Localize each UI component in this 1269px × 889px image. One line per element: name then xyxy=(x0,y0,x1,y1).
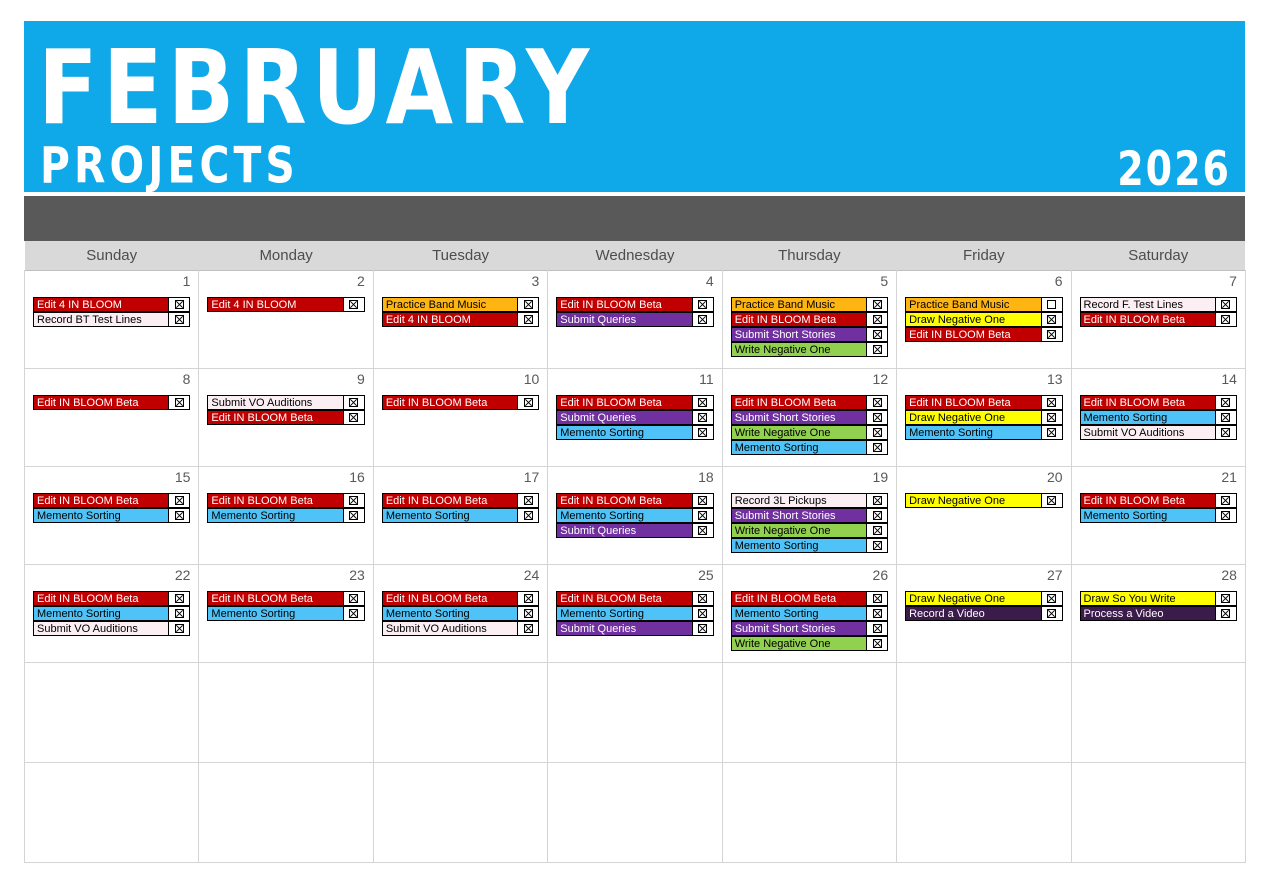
event-item[interactable]: Submit VO Auditions xyxy=(207,395,364,410)
calendar-day-cell-empty[interactable] xyxy=(199,763,373,863)
event-checkbox-checked-icon[interactable] xyxy=(517,493,539,508)
calendar-week-row xyxy=(25,663,1246,763)
event-checkbox-checked-icon[interactable] xyxy=(866,410,888,425)
calendar-day-cell-13[interactable]: 13Edit IN BLOOM BetaDraw Negative OneMem… xyxy=(897,369,1071,467)
event-label[interactable]: Edit IN BLOOM Beta xyxy=(556,297,691,312)
checkbox-glyph xyxy=(1047,413,1056,422)
event-checkbox-checked-icon[interactable] xyxy=(692,606,714,621)
event-checkbox-checked-icon[interactable] xyxy=(1215,606,1237,621)
event-label[interactable]: Edit IN BLOOM Beta xyxy=(207,591,342,606)
day-number: 23 xyxy=(199,565,372,585)
event-label[interactable]: Memento Sorting xyxy=(33,508,168,523)
calendar-day-cell-empty[interactable] xyxy=(373,663,547,763)
weekday-header-row: SundayMondayTuesdayWednesdayThursdayFrid… xyxy=(25,241,1246,271)
event-item[interactable]: Process a Video xyxy=(1080,606,1237,621)
event-label[interactable]: Memento Sorting xyxy=(556,425,691,440)
event-item[interactable]: Memento Sorting xyxy=(33,508,190,523)
event-checkbox-unchecked-icon[interactable] xyxy=(1041,297,1063,312)
event-checkbox-checked-icon[interactable] xyxy=(343,493,365,508)
calendar-day-cell-empty[interactable] xyxy=(722,663,896,763)
event-label[interactable]: Draw Negative One xyxy=(905,591,1040,606)
event-label[interactable]: Submit Queries xyxy=(556,312,691,327)
event-checkbox-checked-icon[interactable] xyxy=(692,523,714,538)
event-checkbox-checked-icon[interactable] xyxy=(517,297,539,312)
event-checkbox-checked-icon[interactable] xyxy=(343,606,365,621)
event-item[interactable]: Submit Short Stories xyxy=(731,410,888,425)
event-label[interactable]: Edit IN BLOOM Beta xyxy=(207,410,342,425)
event-list xyxy=(548,783,721,789)
event-checkbox-checked-icon[interactable] xyxy=(692,493,714,508)
calendar-day-cell-5[interactable]: 5Practice Band MusicEdit IN BLOOM BetaSu… xyxy=(722,271,896,369)
event-item[interactable]: Memento Sorting xyxy=(731,538,888,553)
event-checkbox-checked-icon[interactable] xyxy=(1041,425,1063,440)
calendar-day-cell-empty[interactable] xyxy=(722,763,896,863)
event-label[interactable]: Edit IN BLOOM Beta xyxy=(556,493,691,508)
event-label[interactable]: Record F. Test Lines xyxy=(1080,297,1215,312)
event-item[interactable]: Edit IN BLOOM Beta xyxy=(905,395,1062,410)
event-item[interactable]: Draw Negative One xyxy=(905,410,1062,425)
event-checkbox-checked-icon[interactable] xyxy=(1041,591,1063,606)
event-label[interactable]: Memento Sorting xyxy=(1080,508,1215,523)
event-item[interactable]: Memento Sorting xyxy=(731,606,888,621)
event-label[interactable]: Practice Band Music xyxy=(905,297,1040,312)
event-label[interactable]: Memento Sorting xyxy=(731,440,866,455)
event-item[interactable]: Write Negative One xyxy=(731,523,888,538)
event-checkbox-checked-icon[interactable] xyxy=(692,621,714,636)
event-checkbox-checked-icon[interactable] xyxy=(1215,591,1237,606)
event-label[interactable]: Memento Sorting xyxy=(207,508,342,523)
event-label[interactable]: Draw Negative One xyxy=(905,312,1040,327)
event-item[interactable]: Edit IN BLOOM Beta xyxy=(556,395,713,410)
event-label[interactable]: Edit IN BLOOM Beta xyxy=(1080,395,1215,410)
event-item[interactable]: Edit IN BLOOM Beta xyxy=(731,591,888,606)
calendar-day-cell-17[interactable]: 17Edit IN BLOOM BetaMemento Sorting xyxy=(373,467,547,565)
event-list: Edit IN BLOOM BetaMemento Sorting xyxy=(199,585,372,621)
weekday-header-sunday: Sunday xyxy=(25,241,199,271)
event-label[interactable]: Memento Sorting xyxy=(33,606,168,621)
event-checkbox-checked-icon[interactable] xyxy=(517,591,539,606)
event-label[interactable]: Practice Band Music xyxy=(382,297,517,312)
event-item[interactable]: Edit IN BLOOM Beta xyxy=(556,493,713,508)
calendar-day-cell-7[interactable]: 7Record F. Test LinesEdit IN BLOOM Beta xyxy=(1071,271,1245,369)
event-checkbox-checked-icon[interactable] xyxy=(343,395,365,410)
event-item[interactable]: Edit IN BLOOM Beta xyxy=(1080,395,1237,410)
day-number: 8 xyxy=(25,369,198,389)
calendar-day-cell-3[interactable]: 3Practice Band MusicEdit 4 IN BLOOM xyxy=(373,271,547,369)
event-item[interactable]: Memento Sorting xyxy=(905,425,1062,440)
day-number: 4 xyxy=(548,271,721,291)
event-label[interactable]: Edit IN BLOOM Beta xyxy=(33,395,168,410)
calendar-day-cell-28[interactable]: 28Draw So You WriteProcess a Video xyxy=(1071,565,1245,663)
event-checkbox-checked-icon[interactable] xyxy=(692,425,714,440)
checkbox-glyph xyxy=(349,609,358,618)
event-checkbox-checked-icon[interactable] xyxy=(168,395,190,410)
event-checkbox-checked-icon[interactable] xyxy=(866,538,888,553)
event-checkbox-checked-icon[interactable] xyxy=(866,342,888,357)
event-label[interactable]: Edit 4 IN BLOOM xyxy=(207,297,342,312)
event-item[interactable]: Draw Negative One xyxy=(905,493,1062,508)
event-item[interactable]: Edit IN BLOOM Beta xyxy=(905,327,1062,342)
event-item[interactable]: Edit IN BLOOM Beta xyxy=(556,591,713,606)
event-label[interactable]: Edit IN BLOOM Beta xyxy=(905,395,1040,410)
event-item[interactable]: Memento Sorting xyxy=(556,606,713,621)
event-list xyxy=(199,683,372,689)
calendar-day-cell-20[interactable]: 20Draw Negative One xyxy=(897,467,1071,565)
calendar-day-cell-11[interactable]: 11Edit IN BLOOM BetaSubmit QueriesMement… xyxy=(548,369,722,467)
event-label[interactable]: Edit IN BLOOM Beta xyxy=(382,591,517,606)
event-item[interactable]: Practice Band Music xyxy=(731,297,888,312)
event-item[interactable]: Submit VO Auditions xyxy=(1080,425,1237,440)
calendar-day-cell-empty[interactable] xyxy=(373,763,547,863)
calendar-day-cell-empty[interactable] xyxy=(199,663,373,763)
checkbox-glyph xyxy=(1221,594,1230,603)
calendar-day-cell-14[interactable]: 14Edit IN BLOOM BetaMemento SortingSubmi… xyxy=(1071,369,1245,467)
event-checkbox-checked-icon[interactable] xyxy=(168,312,190,327)
checkbox-glyph xyxy=(1221,428,1230,437)
event-checkbox-checked-icon[interactable] xyxy=(1041,395,1063,410)
day-number: 24 xyxy=(374,565,547,585)
calendar-day-cell-empty[interactable] xyxy=(1071,663,1245,763)
event-label[interactable]: Memento Sorting xyxy=(382,606,517,621)
checkbox-glyph xyxy=(873,639,882,648)
event-checkbox-checked-icon[interactable] xyxy=(517,312,539,327)
calendar-week-row: 1Edit 4 IN BLOOMRecord BT Test Lines2Edi… xyxy=(25,271,1246,369)
event-label[interactable]: Memento Sorting xyxy=(382,508,517,523)
event-item[interactable]: Edit IN BLOOM Beta xyxy=(1080,493,1237,508)
calendar-day-cell-empty[interactable] xyxy=(548,663,722,763)
event-label[interactable]: Edit 4 IN BLOOM xyxy=(33,297,168,312)
calendar-day-cell-25[interactable]: 25Edit IN BLOOM BetaMemento SortingSubmi… xyxy=(548,565,722,663)
event-label[interactable]: Edit IN BLOOM Beta xyxy=(382,395,517,410)
event-item[interactable]: Draw Negative One xyxy=(905,312,1062,327)
event-item[interactable]: Memento Sorting xyxy=(731,440,888,455)
event-item[interactable]: Memento Sorting xyxy=(1080,508,1237,523)
event-list: Edit IN BLOOM BetaSubmit Short StoriesWr… xyxy=(723,389,896,455)
event-list: Edit IN BLOOM BetaMemento SortingSubmit … xyxy=(548,585,721,636)
event-label[interactable]: Process a Video xyxy=(1080,606,1215,621)
calendar-day-cell-4[interactable]: 4Edit IN BLOOM BetaSubmit Queries xyxy=(548,271,722,369)
event-checkbox-checked-icon[interactable] xyxy=(692,410,714,425)
event-checkbox-checked-icon[interactable] xyxy=(866,395,888,410)
calendar-day-cell-empty[interactable] xyxy=(25,763,199,863)
event-checkbox-checked-icon[interactable] xyxy=(168,606,190,621)
banner-subtitle: PROJECTS xyxy=(40,141,299,191)
calendar-day-cell-empty[interactable] xyxy=(1071,763,1245,863)
weekday-header-thursday: Thursday xyxy=(722,241,896,271)
event-item[interactable]: Edit IN BLOOM Beta xyxy=(33,493,190,508)
event-checkbox-checked-icon[interactable] xyxy=(517,606,539,621)
event-checkbox-checked-icon[interactable] xyxy=(1041,606,1063,621)
day-number: 22 xyxy=(25,565,198,585)
event-label[interactable]: Memento Sorting xyxy=(1080,410,1215,425)
day-number xyxy=(199,663,372,683)
event-label[interactable]: Edit IN BLOOM Beta xyxy=(33,493,168,508)
event-item[interactable]: Record a Video xyxy=(905,606,1062,621)
event-checkbox-checked-icon[interactable] xyxy=(343,297,365,312)
event-label[interactable]: Submit VO Auditions xyxy=(207,395,342,410)
event-item[interactable]: Draw Negative One xyxy=(905,591,1062,606)
event-checkbox-checked-icon[interactable] xyxy=(517,395,539,410)
event-list: Record 3L PickupsSubmit Short StoriesWri… xyxy=(723,487,896,553)
event-item[interactable]: Record F. Test Lines xyxy=(1080,297,1237,312)
event-label[interactable]: Submit Queries xyxy=(556,410,691,425)
event-label[interactable]: Submit Short Stories xyxy=(731,508,866,523)
event-item[interactable]: Submit VO Auditions xyxy=(382,621,539,636)
event-item[interactable]: Memento Sorting xyxy=(556,508,713,523)
event-checkbox-checked-icon[interactable] xyxy=(866,493,888,508)
event-checkbox-checked-icon[interactable] xyxy=(866,621,888,636)
calendar-day-cell-empty[interactable] xyxy=(548,763,722,863)
event-label[interactable]: Record BT Test Lines xyxy=(33,312,168,327)
event-label[interactable]: Memento Sorting xyxy=(731,606,866,621)
event-item[interactable]: Edit IN BLOOM Beta xyxy=(207,410,364,425)
event-checkbox-checked-icon[interactable] xyxy=(1041,312,1063,327)
checkbox-glyph xyxy=(1047,428,1056,437)
event-label[interactable]: Submit VO Auditions xyxy=(382,621,517,636)
checkbox-glyph xyxy=(698,624,707,633)
event-item[interactable]: Edit 4 IN BLOOM xyxy=(33,297,190,312)
event-checkbox-checked-icon[interactable] xyxy=(692,508,714,523)
event-label[interactable]: Edit IN BLOOM Beta xyxy=(1080,312,1215,327)
event-item[interactable]: Write Negative One xyxy=(731,425,888,440)
event-checkbox-checked-icon[interactable] xyxy=(692,312,714,327)
calendar-day-cell-empty[interactable] xyxy=(25,663,199,763)
event-item[interactable]: Draw So You Write xyxy=(1080,591,1237,606)
calendar-day-cell-18[interactable]: 18Edit IN BLOOM BetaMemento SortingSubmi… xyxy=(548,467,722,565)
calendar-day-cell-24[interactable]: 24Edit IN BLOOM BetaMemento SortingSubmi… xyxy=(373,565,547,663)
event-item[interactable]: Submit Queries xyxy=(556,410,713,425)
event-item[interactable]: Write Negative One xyxy=(731,342,888,357)
day-number: 19 xyxy=(723,467,896,487)
event-list xyxy=(1072,683,1245,689)
event-item[interactable]: Memento Sorting xyxy=(382,606,539,621)
event-label[interactable]: Memento Sorting xyxy=(207,606,342,621)
event-checkbox-checked-icon[interactable] xyxy=(343,591,365,606)
event-checkbox-checked-icon[interactable] xyxy=(343,410,365,425)
event-checkbox-checked-icon[interactable] xyxy=(1215,297,1237,312)
event-label[interactable]: Edit IN BLOOM Beta xyxy=(382,493,517,508)
event-label[interactable]: Submit Short Stories xyxy=(731,410,866,425)
calendar-day-cell-22[interactable]: 22Edit IN BLOOM BetaMemento SortingSubmi… xyxy=(25,565,199,663)
event-checkbox-checked-icon[interactable] xyxy=(866,425,888,440)
weekday-header-tuesday: Tuesday xyxy=(373,241,547,271)
checkbox-glyph xyxy=(1221,609,1230,618)
event-label[interactable]: Edit IN BLOOM Beta xyxy=(556,395,691,410)
day-number: 15 xyxy=(25,467,198,487)
event-checkbox-checked-icon[interactable] xyxy=(866,327,888,342)
event-checkbox-checked-icon[interactable] xyxy=(866,440,888,455)
calendar-day-cell-27[interactable]: 27Draw Negative OneRecord a Video xyxy=(897,565,1071,663)
event-label[interactable]: Submit VO Auditions xyxy=(1080,425,1215,440)
event-label[interactable]: Submit VO Auditions xyxy=(33,621,168,636)
calendar-week-row: 8Edit IN BLOOM Beta9Submit VO AuditionsE… xyxy=(25,369,1246,467)
event-item[interactable]: Submit Queries xyxy=(556,312,713,327)
event-checkbox-checked-icon[interactable] xyxy=(168,591,190,606)
event-item[interactable]: Write Negative One xyxy=(731,636,888,651)
calendar-day-cell-empty[interactable] xyxy=(897,663,1071,763)
event-checkbox-checked-icon[interactable] xyxy=(1215,312,1237,327)
day-number: 17 xyxy=(374,467,547,487)
day-number xyxy=(25,763,198,783)
event-label[interactable]: Memento Sorting xyxy=(556,606,691,621)
event-label[interactable]: Edit IN BLOOM Beta xyxy=(731,395,866,410)
event-item[interactable]: Memento Sorting xyxy=(33,606,190,621)
event-item[interactable]: Practice Band Music xyxy=(382,297,539,312)
event-label[interactable]: Edit IN BLOOM Beta xyxy=(731,591,866,606)
day-number xyxy=(1072,763,1245,783)
event-label[interactable]: Edit IN BLOOM Beta xyxy=(731,312,866,327)
event-list xyxy=(723,783,896,789)
calendar-day-cell-9[interactable]: 9Submit VO AuditionsEdit IN BLOOM Beta xyxy=(199,369,373,467)
event-label[interactable]: Record 3L Pickups xyxy=(731,493,866,508)
event-label[interactable]: Submit Queries xyxy=(556,621,691,636)
calendar-day-cell-8[interactable]: 8Edit IN BLOOM Beta xyxy=(25,369,199,467)
event-label[interactable]: Memento Sorting xyxy=(905,425,1040,440)
event-list: Edit IN BLOOM BetaSubmit QueriesMemento … xyxy=(548,389,721,440)
event-item[interactable]: Memento Sorting xyxy=(207,606,364,621)
event-item[interactable]: Submit VO Auditions xyxy=(33,621,190,636)
event-checkbox-checked-icon[interactable] xyxy=(1041,493,1063,508)
calendar-day-cell-26[interactable]: 26Edit IN BLOOM BetaMemento SortingSubmi… xyxy=(722,565,896,663)
event-label[interactable]: Write Negative One xyxy=(731,636,866,651)
calendar-day-cell-6[interactable]: 6Practice Band MusicDraw Negative OneEdi… xyxy=(897,271,1071,369)
event-label[interactable]: Write Negative One xyxy=(731,523,866,538)
calendar-day-cell-21[interactable]: 21Edit IN BLOOM BetaMemento Sorting xyxy=(1071,467,1245,565)
event-list: Record F. Test LinesEdit IN BLOOM Beta xyxy=(1072,291,1245,327)
event-checkbox-checked-icon[interactable] xyxy=(168,297,190,312)
event-item[interactable]: Record 3L Pickups xyxy=(731,493,888,508)
checkbox-glyph xyxy=(873,511,882,520)
event-label[interactable]: Edit IN BLOOM Beta xyxy=(1080,493,1215,508)
event-item[interactable]: Edit IN BLOOM Beta xyxy=(382,395,539,410)
event-item[interactable]: Edit IN BLOOM Beta xyxy=(556,297,713,312)
event-label[interactable]: Edit IN BLOOM Beta xyxy=(905,327,1040,342)
day-number xyxy=(25,663,198,683)
checkbox-glyph xyxy=(1047,496,1056,505)
event-item[interactable]: Memento Sorting xyxy=(382,508,539,523)
event-label[interactable]: Write Negative One xyxy=(731,425,866,440)
event-checkbox-checked-icon[interactable] xyxy=(168,621,190,636)
event-label[interactable]: Memento Sorting xyxy=(731,538,866,553)
event-item[interactable]: Edit IN BLOOM Beta xyxy=(382,591,539,606)
day-number: 21 xyxy=(1072,467,1245,487)
event-label[interactable]: Write Negative One xyxy=(731,342,866,357)
calendar-day-cell-16[interactable]: 16Edit IN BLOOM BetaMemento Sorting xyxy=(199,467,373,565)
event-label[interactable]: Submit Queries xyxy=(556,523,691,538)
event-label[interactable]: Edit 4 IN BLOOM xyxy=(382,312,517,327)
event-checkbox-checked-icon[interactable] xyxy=(692,395,714,410)
event-item[interactable]: Edit IN BLOOM Beta xyxy=(207,591,364,606)
event-label[interactable]: Record a Video xyxy=(905,606,1040,621)
event-item[interactable]: Edit IN BLOOM Beta xyxy=(382,493,539,508)
event-item[interactable]: Submit Short Stories xyxy=(731,508,888,523)
event-checkbox-checked-icon[interactable] xyxy=(866,297,888,312)
event-item[interactable]: Submit Queries xyxy=(556,621,713,636)
event-checkbox-checked-icon[interactable] xyxy=(692,297,714,312)
event-label[interactable]: Edit IN BLOOM Beta xyxy=(556,591,691,606)
event-label[interactable]: Practice Band Music xyxy=(731,297,866,312)
calendar-day-cell-empty[interactable] xyxy=(897,763,1071,863)
event-checkbox-checked-icon[interactable] xyxy=(1041,410,1063,425)
day-number xyxy=(374,763,547,783)
calendar-day-cell-1[interactable]: 1Edit 4 IN BLOOMRecord BT Test Lines xyxy=(25,271,199,369)
calendar-day-cell-12[interactable]: 12Edit IN BLOOM BetaSubmit Short Stories… xyxy=(722,369,896,467)
event-item[interactable]: Memento Sorting xyxy=(1080,410,1237,425)
event-checkbox-checked-icon[interactable] xyxy=(168,493,190,508)
event-item[interactable]: Memento Sorting xyxy=(207,508,364,523)
event-checkbox-checked-icon[interactable] xyxy=(866,312,888,327)
event-item[interactable]: Edit IN BLOOM Beta xyxy=(1080,312,1237,327)
calendar-day-cell-15[interactable]: 15Edit IN BLOOM BetaMemento Sorting xyxy=(25,467,199,565)
event-item[interactable]: Edit IN BLOOM Beta xyxy=(731,395,888,410)
calendar-day-cell-2[interactable]: 2Edit 4 IN BLOOM xyxy=(199,271,373,369)
event-label[interactable]: Edit IN BLOOM Beta xyxy=(207,493,342,508)
checkbox-glyph xyxy=(524,511,533,520)
event-item[interactable]: Practice Band Music xyxy=(905,297,1062,312)
event-checkbox-checked-icon[interactable] xyxy=(343,508,365,523)
event-item[interactable]: Edit 4 IN BLOOM xyxy=(207,297,364,312)
weekday-header-wednesday: Wednesday xyxy=(548,241,722,271)
event-label[interactable]: Submit Short Stories xyxy=(731,621,866,636)
event-checkbox-checked-icon[interactable] xyxy=(866,591,888,606)
event-item[interactable]: Memento Sorting xyxy=(556,425,713,440)
event-item[interactable]: Edit IN BLOOM Beta xyxy=(33,591,190,606)
event-checkbox-checked-icon[interactable] xyxy=(168,508,190,523)
event-list: Edit IN BLOOM BetaMemento SortingSubmit … xyxy=(1072,389,1245,440)
event-item[interactable]: Edit IN BLOOM Beta xyxy=(207,493,364,508)
event-item[interactable]: Edit IN BLOOM Beta xyxy=(731,312,888,327)
calendar-day-cell-23[interactable]: 23Edit IN BLOOM BetaMemento Sorting xyxy=(199,565,373,663)
event-checkbox-checked-icon[interactable] xyxy=(866,636,888,651)
event-checkbox-checked-icon[interactable] xyxy=(1041,327,1063,342)
event-list xyxy=(25,783,198,789)
event-item[interactable]: Submit Queries xyxy=(556,523,713,538)
checkbox-glyph xyxy=(1047,330,1056,339)
event-checkbox-checked-icon[interactable] xyxy=(692,591,714,606)
event-label[interactable]: Edit IN BLOOM Beta xyxy=(33,591,168,606)
calendar-day-cell-10[interactable]: 10Edit IN BLOOM Beta xyxy=(373,369,547,467)
checkbox-glyph xyxy=(349,413,358,422)
event-label[interactable]: Memento Sorting xyxy=(556,508,691,523)
event-checkbox-checked-icon[interactable] xyxy=(1215,425,1237,440)
event-item[interactable]: Record BT Test Lines xyxy=(33,312,190,327)
event-item[interactable]: Edit 4 IN BLOOM xyxy=(382,312,539,327)
checkbox-glyph xyxy=(349,496,358,505)
event-checkbox-checked-icon[interactable] xyxy=(1215,410,1237,425)
checkbox-glyph xyxy=(1047,594,1056,603)
day-number: 27 xyxy=(897,565,1070,585)
event-item[interactable]: Submit Short Stories xyxy=(731,621,888,636)
checkbox-glyph xyxy=(698,413,707,422)
event-label[interactable]: Draw Negative One xyxy=(905,493,1040,508)
event-checkbox-checked-icon[interactable] xyxy=(1215,508,1237,523)
event-checkbox-checked-icon[interactable] xyxy=(866,508,888,523)
calendar-day-cell-19[interactable]: 19Record 3L PickupsSubmit Short StoriesW… xyxy=(722,467,896,565)
event-item[interactable]: Submit Short Stories xyxy=(731,327,888,342)
event-label[interactable]: Draw Negative One xyxy=(905,410,1040,425)
event-checkbox-checked-icon[interactable] xyxy=(1215,395,1237,410)
event-checkbox-checked-icon[interactable] xyxy=(1215,493,1237,508)
event-label[interactable]: Submit Short Stories xyxy=(731,327,866,342)
checkbox-glyph xyxy=(1221,398,1230,407)
event-checkbox-checked-icon[interactable] xyxy=(517,621,539,636)
event-checkbox-checked-icon[interactable] xyxy=(517,508,539,523)
event-checkbox-checked-icon[interactable] xyxy=(866,523,888,538)
event-checkbox-checked-icon[interactable] xyxy=(866,606,888,621)
event-item[interactable]: Edit IN BLOOM Beta xyxy=(33,395,190,410)
event-label[interactable]: Draw So You Write xyxy=(1080,591,1215,606)
calendar-week-row xyxy=(25,763,1246,863)
